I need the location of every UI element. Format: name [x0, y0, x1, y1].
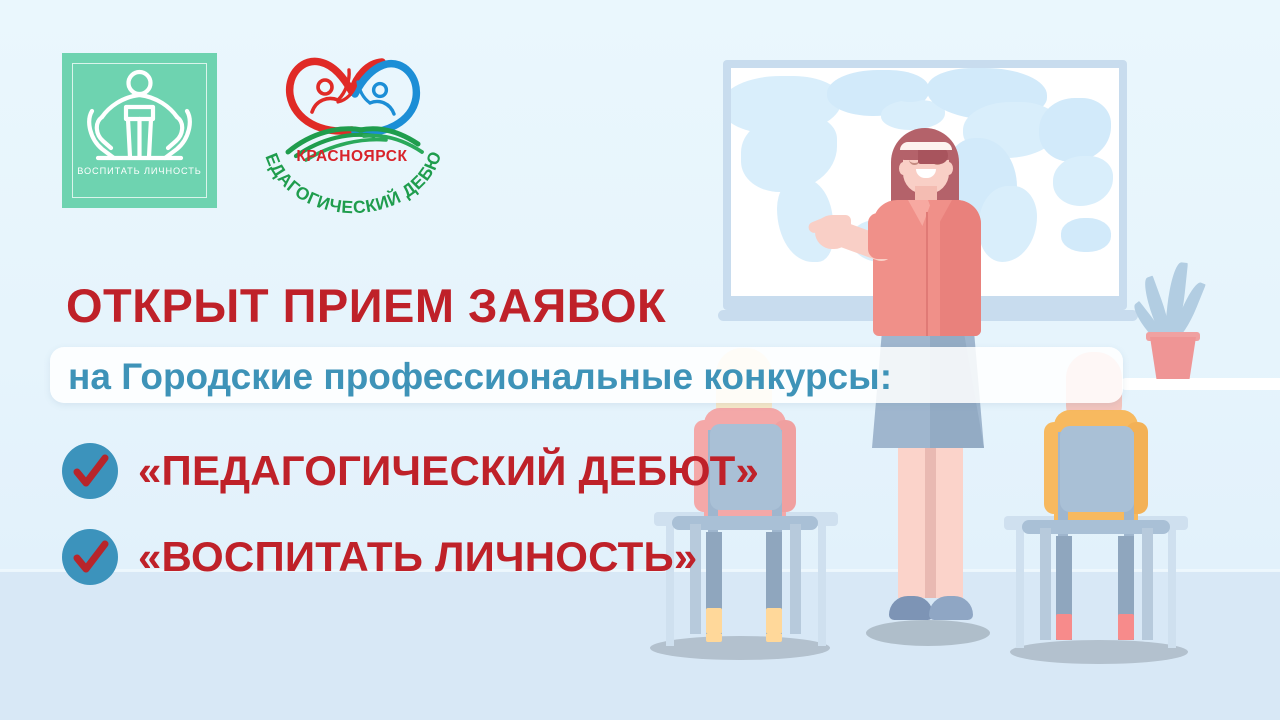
contest-name-lichnost: «ВОСПИТАТЬ ЛИЧНОСТЬ» — [138, 533, 697, 581]
logo-pedagogicheskiy-debut: ПЕДАГОГИЧЕСКИЙ ДЕБЮТ КРАСНОЯРСК — [252, 40, 452, 235]
logo-kd-city: КРАСНОЯРСК — [252, 148, 452, 166]
page-title: ОТКРЫТ ПРИЕМ ЗАЯВОК — [66, 278, 666, 333]
list-item: «ПЕДАГОГИЧЕСКИЙ ДЕБЮТ» — [62, 443, 759, 499]
check-circle-icon — [62, 443, 118, 499]
child-in-hands-icon — [62, 61, 217, 176]
check-circle-icon — [62, 529, 118, 585]
list-item: «ВОСПИТАТЬ ЛИЧНОСТЬ» — [62, 529, 697, 585]
two-hearts-butterfly-icon: ПЕДАГОГИЧЕСКИЙ ДЕБЮТ — [252, 40, 452, 235]
poster-canvas: ВОСПИТАТЬ ЛИЧНОСТЬ — [0, 0, 1280, 720]
logo-vl-caption: ВОСПИТАТЬ ЛИЧНОСТЬ — [62, 166, 217, 176]
wall-shelf — [1120, 378, 1280, 390]
logo-vospitat-lichnost: ВОСПИТАТЬ ЛИЧНОСТЬ — [62, 53, 217, 208]
contest-name-debut: «ПЕДАГОГИЧЕСКИЙ ДЕБЮТ» — [138, 447, 759, 495]
subtitle-text: на Городские профессиональные конкурсы: — [68, 356, 892, 398]
